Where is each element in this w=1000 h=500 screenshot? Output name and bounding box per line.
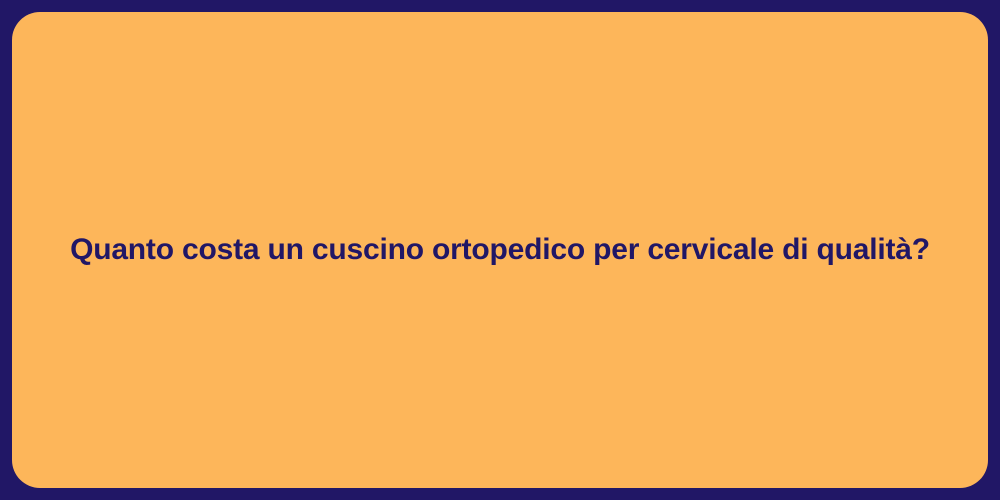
banner-root: Quanto costa un cuscino ortopedico per c… [0,0,1000,500]
page-title: Quanto costa un cuscino ortopedico per c… [41,231,958,269]
banner-card: Quanto costa un cuscino ortopedico per c… [12,12,988,488]
